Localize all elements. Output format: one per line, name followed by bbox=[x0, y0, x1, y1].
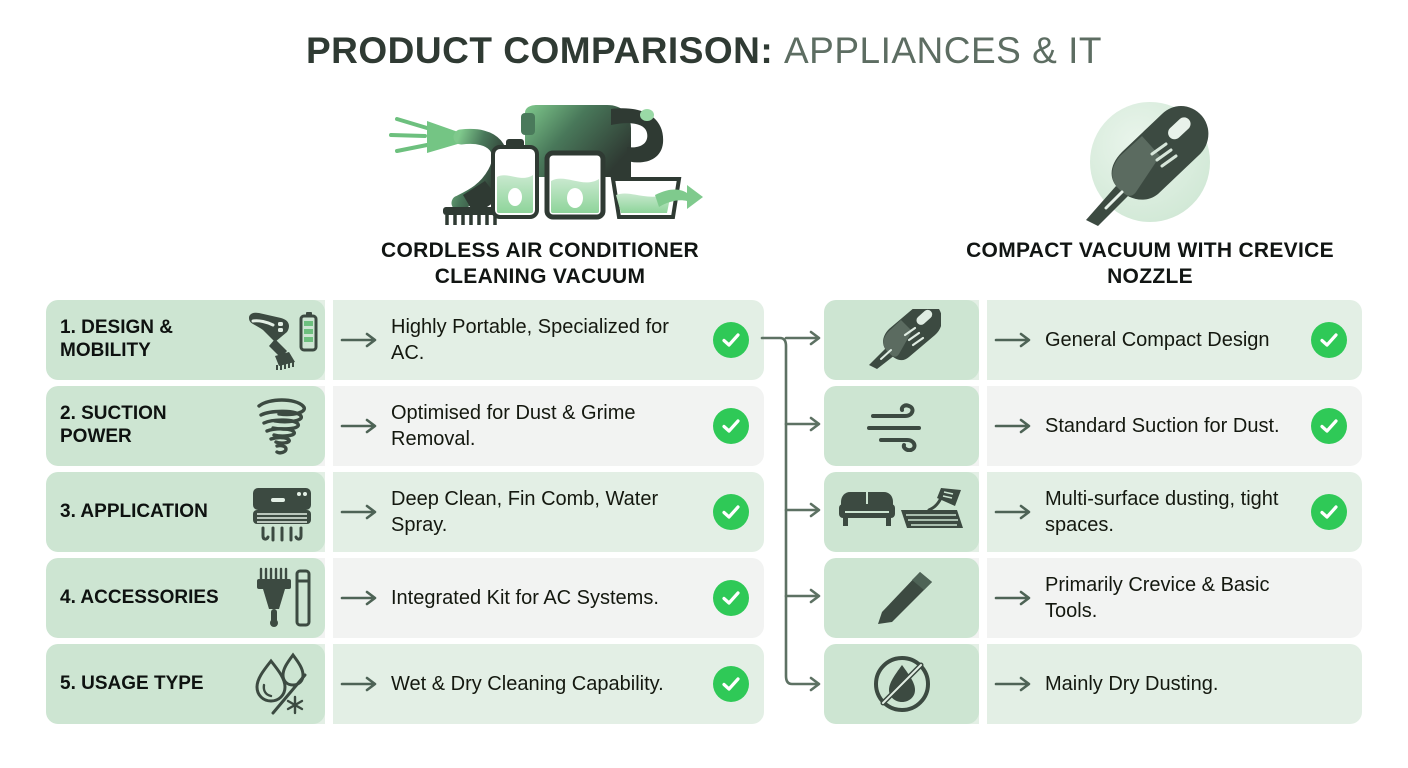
row-check-cell bbox=[698, 644, 764, 724]
row-arrow-icon bbox=[333, 644, 391, 724]
row-label: 1. DESIGN & MOBILITY bbox=[60, 317, 241, 363]
check-icon bbox=[1311, 494, 1347, 530]
row-arrow-icon bbox=[987, 386, 1045, 466]
product-right-name: COMPACT VACUUM WITH CREVICE NOZZLE bbox=[940, 238, 1360, 289]
cell-divider bbox=[979, 644, 987, 724]
page-title-strong: PRODUCT COMPARISON: bbox=[306, 30, 784, 71]
product-header-left: CORDLESS AIR CONDITIONER CLEANING VACUUM bbox=[330, 100, 750, 289]
cell-divider bbox=[325, 472, 333, 552]
row-arrow-icon bbox=[987, 472, 1045, 552]
check-icon bbox=[713, 580, 749, 616]
row-check-cell bbox=[1296, 558, 1362, 638]
row-arrow-icon bbox=[987, 300, 1045, 380]
row-arrow-icon bbox=[333, 558, 391, 638]
brush-and-tool-icon bbox=[245, 565, 319, 631]
product-left-name: CORDLESS AIR CONDITIONER CLEANING VACUUM bbox=[330, 238, 750, 289]
row-description: Highly Portable, Specialized for AC. bbox=[391, 300, 698, 380]
check-icon bbox=[713, 666, 749, 702]
cell-divider bbox=[325, 644, 333, 724]
row-label: 4. ACCESSORIES bbox=[60, 587, 241, 610]
check-icon bbox=[713, 322, 749, 358]
check-icon bbox=[1311, 322, 1347, 358]
row-check-cell bbox=[1296, 644, 1362, 724]
page-title-light: APPLIANCES & IT bbox=[784, 30, 1102, 71]
cell-divider bbox=[325, 558, 333, 638]
row-description: Standard Suction for Dust. bbox=[1045, 386, 1296, 466]
comparison-rows-left: 1. DESIGN & MOBILITY bbox=[46, 300, 764, 730]
row-arrow-icon bbox=[333, 472, 391, 552]
check-icon bbox=[713, 494, 749, 530]
table-row[interactable]: 5. USAGE TYPE Wet & Dry Cleaning Capabil… bbox=[46, 644, 764, 724]
row-description: Integrated Kit for AC Systems. bbox=[391, 558, 698, 638]
row-description: Primarily Crevice & Basic Tools. bbox=[1045, 558, 1296, 638]
row-description: Mainly Dry Dusting. bbox=[1045, 644, 1296, 724]
table-row[interactable]: 2. SUCTION POWER Optimised for Dust & bbox=[46, 386, 764, 466]
table-row[interactable]: Multi-surface dusting, tight spaces. bbox=[824, 472, 1362, 552]
row-description: Deep Clean, Fin Comb, Water Spray. bbox=[391, 472, 698, 552]
table-row[interactable]: General Compact Design bbox=[824, 300, 1362, 380]
row-arrow-icon bbox=[987, 558, 1045, 638]
tornado-suction-icon bbox=[245, 394, 319, 458]
comparison-rows-right: General Compact Design Standard Suction … bbox=[824, 300, 1362, 730]
product-header-right: COMPACT VACUUM WITH CREVICE NOZZLE bbox=[940, 100, 1360, 289]
row-check-cell bbox=[698, 300, 764, 380]
cell-divider bbox=[979, 300, 987, 380]
crevice-nozzle-icon bbox=[824, 558, 979, 638]
row-arrow-icon bbox=[333, 386, 391, 466]
row-description: Wet & Dry Cleaning Capability. bbox=[391, 644, 698, 724]
row-description: General Compact Design bbox=[1045, 300, 1296, 380]
row-label-cell: 2. SUCTION POWER bbox=[46, 386, 325, 466]
sofa-keyboard-icon bbox=[824, 472, 979, 552]
row-arrow-icon bbox=[333, 300, 391, 380]
cell-divider bbox=[325, 300, 333, 380]
row-check-cell bbox=[698, 558, 764, 638]
no-water-droplet-icon bbox=[824, 644, 979, 724]
table-row[interactable]: 1. DESIGN & MOBILITY bbox=[46, 300, 764, 380]
row-check-cell bbox=[698, 472, 764, 552]
air-conditioner-unit-icon bbox=[245, 480, 319, 544]
check-icon bbox=[1311, 408, 1347, 444]
table-row[interactable]: 4. ACCESSORIES Integrat bbox=[46, 558, 764, 638]
row-arrow-icon bbox=[987, 644, 1045, 724]
row-label-cell: 1. DESIGN & MOBILITY bbox=[46, 300, 325, 380]
row-label: 2. SUCTION POWER bbox=[60, 403, 241, 449]
row-check-cell bbox=[1296, 472, 1362, 552]
check-icon bbox=[713, 408, 749, 444]
row-label-cell: 3. APPLICATION bbox=[46, 472, 325, 552]
row-check-cell bbox=[698, 386, 764, 466]
handheld-vacuum-icon bbox=[824, 300, 979, 380]
row-label-cell: 4. ACCESSORIES bbox=[46, 558, 325, 638]
cell-divider bbox=[979, 386, 987, 466]
cell-divider bbox=[325, 386, 333, 466]
wind-airflow-icon bbox=[824, 386, 979, 466]
row-label: 3. APPLICATION bbox=[60, 501, 241, 524]
wet-dry-droplet-icon bbox=[245, 651, 319, 717]
cell-divider bbox=[979, 558, 987, 638]
table-row[interactable]: Standard Suction for Dust. bbox=[824, 386, 1362, 466]
row-label-cell: 5. USAGE TYPE bbox=[46, 644, 325, 724]
cell-divider bbox=[979, 472, 987, 552]
wet-dry-vacuum-cleaner-illustration bbox=[330, 100, 750, 230]
row-check-cell bbox=[1296, 386, 1362, 466]
handheld-vacuum-illustration bbox=[940, 100, 1360, 230]
page-title: PRODUCT COMPARISON: APPLIANCES & IT bbox=[0, 30, 1408, 72]
table-row[interactable]: 3. APPLICATION bbox=[46, 472, 764, 552]
row-label: 5. USAGE TYPE bbox=[60, 673, 241, 696]
row-check-cell bbox=[1296, 300, 1362, 380]
row-description: Optimised for Dust & Grime Removal. bbox=[391, 386, 698, 466]
cordless-vacuum-battery-icon bbox=[245, 308, 319, 372]
table-row[interactable]: Mainly Dry Dusting. bbox=[824, 644, 1362, 724]
row-description: Multi-surface dusting, tight spaces. bbox=[1045, 472, 1296, 552]
table-row[interactable]: Primarily Crevice & Basic Tools. bbox=[824, 558, 1362, 638]
